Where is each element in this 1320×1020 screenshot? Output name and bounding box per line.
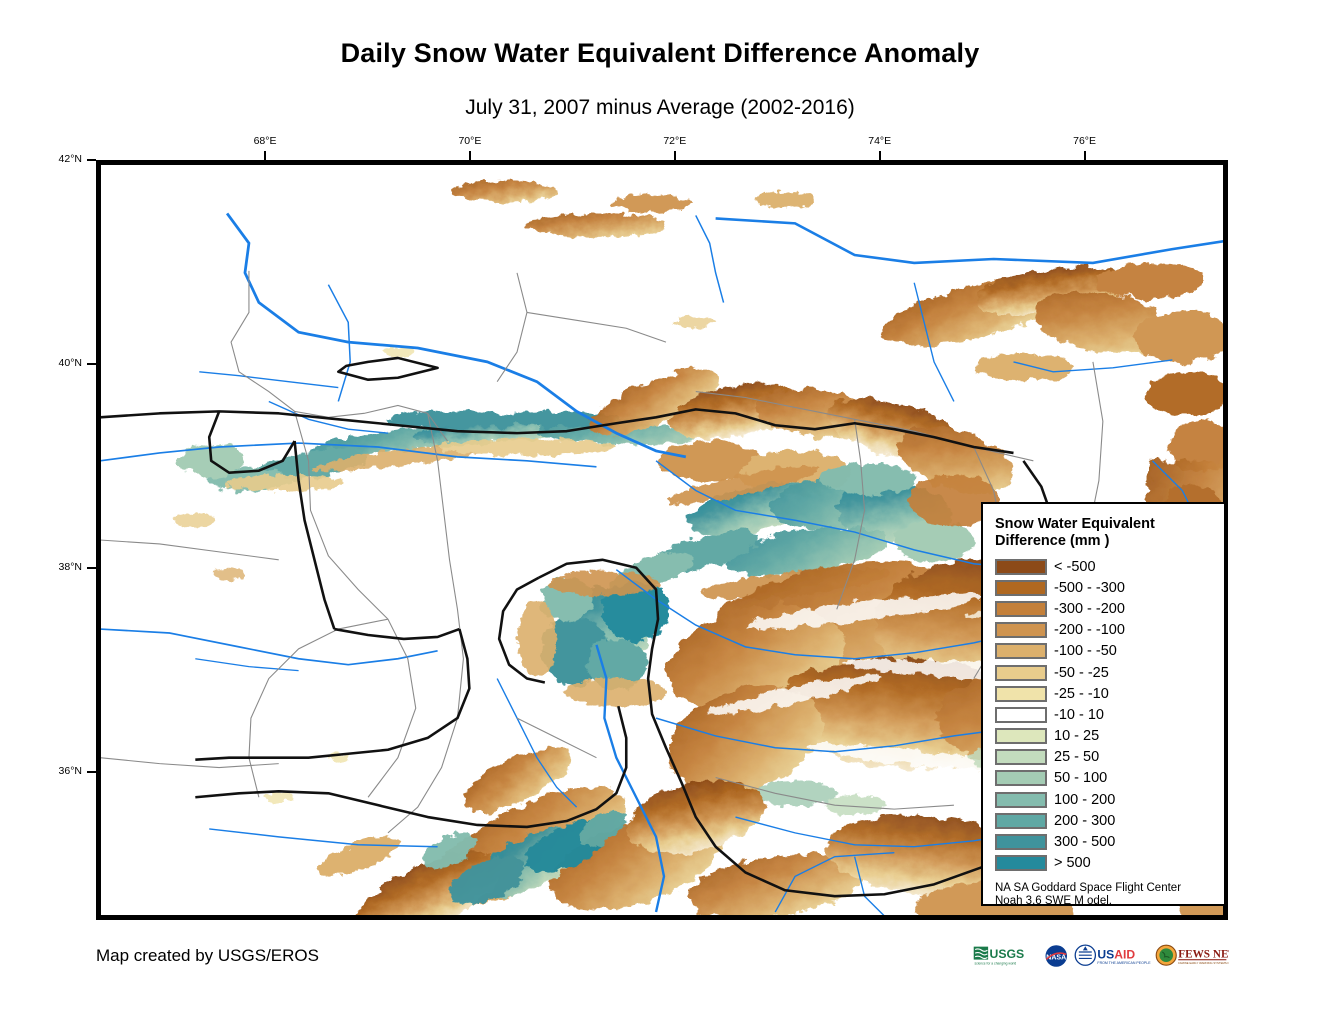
agency-logos: USGS science for a changing world NASA U… <box>973 936 1229 976</box>
nasa-logo[interactable]: NASA <box>1043 941 1069 971</box>
legend-row: -200 - -100 <box>995 620 1217 641</box>
legend-row: 300 - 500 <box>995 831 1217 852</box>
legend-label: -10 - 10 <box>1054 707 1104 723</box>
legend-label: 200 - 300 <box>1054 813 1115 829</box>
lon-tick <box>1084 151 1086 160</box>
legend-swatch <box>995 813 1047 829</box>
legend-label: -200 - -100 <box>1054 622 1125 638</box>
legend-row: < -500 <box>995 556 1217 577</box>
svg-text:FROM THE AMERICAN PEOPLE: FROM THE AMERICAN PEOPLE <box>1097 961 1151 965</box>
legend-row: -50 - -25 <box>995 662 1217 683</box>
legend-label: -25 - -10 <box>1054 686 1109 702</box>
legend-swatch <box>995 770 1047 786</box>
legend-label: -500 - -300 <box>1054 580 1125 596</box>
lat-tick <box>87 771 96 773</box>
legend-label: > 500 <box>1054 855 1091 871</box>
legend-row: -25 - -10 <box>995 683 1217 704</box>
lat-tick <box>87 159 96 161</box>
legend-row: -500 - -300 <box>995 577 1217 598</box>
legend-label: 25 - 50 <box>1054 749 1099 765</box>
legend-swatch <box>995 559 1047 575</box>
lon-tick <box>264 151 266 160</box>
legend-swatch <box>995 707 1047 723</box>
legend-swatch <box>995 855 1047 871</box>
lon-tick <box>469 151 471 160</box>
legend-row: 10 - 25 <box>995 726 1217 747</box>
legend-label: 10 - 25 <box>1054 728 1099 744</box>
legend-row: 25 - 50 <box>995 747 1217 768</box>
lat-tick-label: 42°N <box>36 153 82 165</box>
svg-text:USGS: USGS <box>990 947 1025 961</box>
legend-row: -300 - -200 <box>995 598 1217 619</box>
legend-note-line1: NA SA Goddard Space Flight Center <box>995 882 1181 894</box>
legend-swatch <box>995 749 1047 765</box>
page-subtitle: July 31, 2007 minus Average (2002-2016) <box>0 96 1320 120</box>
legend-row: -100 - -50 <box>995 641 1217 662</box>
legend-swatch <box>995 665 1047 681</box>
legend-source-note: NA SA Goddard Space Flight Center Noah 3… <box>995 882 1217 909</box>
legend-swatch <box>995 601 1047 617</box>
legend-entries: < -500-500 - -300-300 - -200-200 - -100-… <box>995 556 1217 874</box>
map-frame[interactable]: Snow Water Equivalent Difference (mm ) <… <box>96 160 1228 920</box>
lat-tick-label: 38°N <box>36 561 82 573</box>
legend-label: 50 - 100 <box>1054 770 1107 786</box>
lon-tick-label: 74°E <box>850 135 910 147</box>
legend-swatch <box>995 580 1047 596</box>
legend-row: 200 - 300 <box>995 810 1217 831</box>
legend-label: -100 - -50 <box>1054 643 1117 659</box>
legend-label: -50 - -25 <box>1054 665 1109 681</box>
map-legend[interactable]: Snow Water Equivalent Difference (mm ) <… <box>981 502 1228 906</box>
legend-swatch <box>995 622 1047 638</box>
usaid-logo[interactable]: USAID FROM THE AMERICAN PEOPLE <box>1074 941 1152 971</box>
legend-row: 50 - 100 <box>995 768 1217 789</box>
legend-title-line1: Snow Water Equivalent <box>995 516 1155 532</box>
legend-swatch <box>995 643 1047 659</box>
legend-label: 300 - 500 <box>1054 834 1115 850</box>
legend-note-line2: Noah 3.6 SWE M odel. <box>995 895 1112 907</box>
lon-tick-label: 68°E <box>235 135 295 147</box>
legend-swatch <box>995 792 1047 808</box>
svg-text:FAMINE EARLY WARNING SYSTEMS N: FAMINE EARLY WARNING SYSTEMS NETWORK <box>1178 961 1229 965</box>
legend-title: Snow Water Equivalent Difference (mm ) <box>995 516 1217 549</box>
lon-tick-label: 76°E <box>1055 135 1115 147</box>
lat-tick <box>87 363 96 365</box>
legend-row: -10 - 10 <box>995 704 1217 725</box>
fewsnet-logo[interactable]: FEWS NET FAMINE EARLY WARNING SYSTEMS NE… <box>1155 941 1229 971</box>
legend-title-line2: Difference (mm ) <box>995 533 1109 549</box>
svg-text:science for a changing world: science for a changing world <box>974 962 1016 966</box>
legend-swatch <box>995 686 1047 702</box>
legend-row: > 500 <box>995 853 1217 874</box>
lat-tick-label: 36°N <box>36 765 82 777</box>
legend-swatch <box>995 728 1047 744</box>
legend-label: < -500 <box>1054 559 1096 575</box>
svg-text:USAID: USAID <box>1097 947 1135 961</box>
lon-tick-label: 70°E <box>440 135 500 147</box>
lat-tick-label: 40°N <box>36 357 82 369</box>
svg-text:FEWS NET: FEWS NET <box>1178 949 1229 961</box>
lat-tick <box>87 567 96 569</box>
legend-label: 100 - 200 <box>1054 792 1115 808</box>
usgs-logo[interactable]: USGS science for a changing world <box>973 941 1039 971</box>
lon-tick <box>879 151 881 160</box>
legend-row: 100 - 200 <box>995 789 1217 810</box>
page-title: Daily Snow Water Equivalent Difference A… <box>0 38 1320 69</box>
lon-tick-label: 72°E <box>645 135 705 147</box>
legend-swatch <box>995 834 1047 850</box>
legend-label: -300 - -200 <box>1054 601 1125 617</box>
map-credit: Map created by USGS/EROS <box>96 946 319 966</box>
lon-tick <box>674 151 676 160</box>
